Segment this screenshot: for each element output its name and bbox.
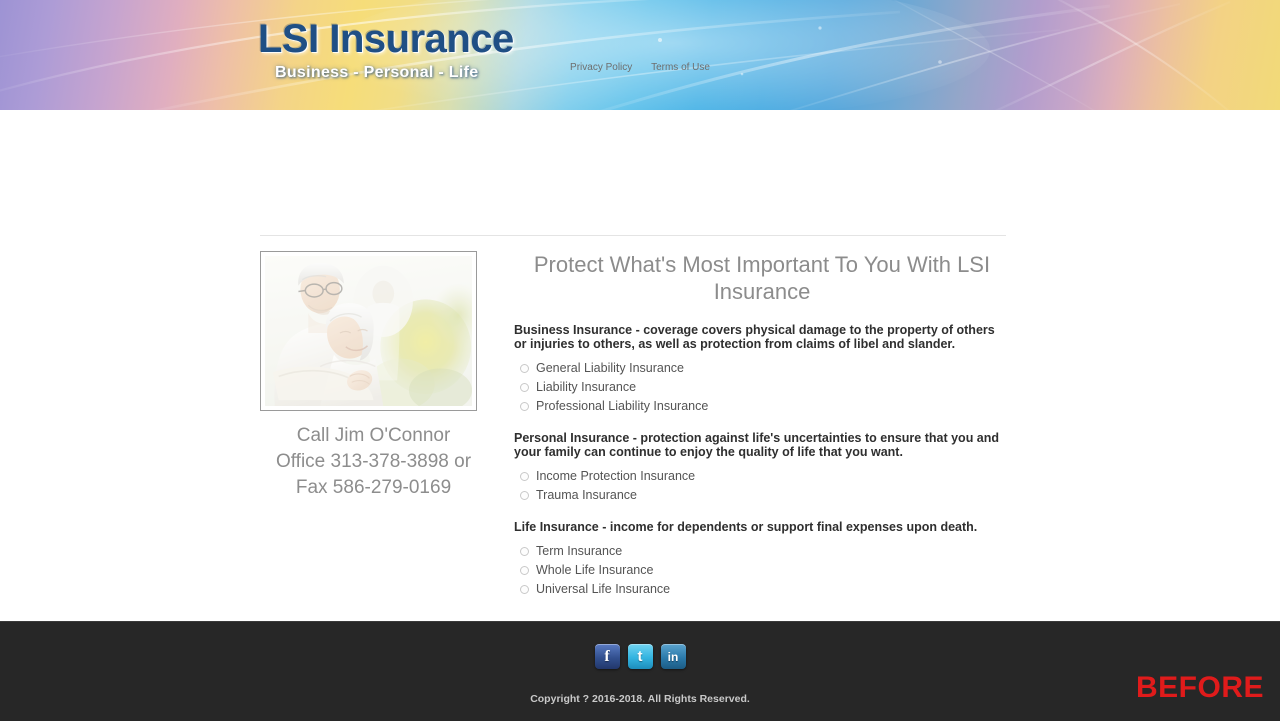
list-item[interactable]: Income Protection Insurance (514, 469, 1010, 483)
circle-bullet-icon (520, 383, 529, 392)
circle-bullet-icon (520, 547, 529, 556)
circle-bullet-icon (520, 566, 529, 575)
footer-links: Privacy Policy Terms of Use (0, 62, 1280, 73)
list-item-label: Professional Liability Insurance (536, 399, 708, 413)
privacy-policy-link[interactable]: Privacy Policy (570, 62, 632, 73)
service-list-personal: Income Protection Insurance Trauma Insur… (514, 469, 1010, 502)
facebook-icon[interactable]: f (595, 644, 620, 669)
list-item[interactable]: Trauma Insurance (514, 488, 1010, 502)
site-title: LSI Insurance (258, 17, 514, 62)
circle-bullet-icon (520, 585, 529, 594)
terms-of-use-link[interactable]: Terms of Use (651, 62, 710, 73)
list-item-label: Universal Life Insurance (536, 582, 670, 596)
circle-bullet-icon (520, 472, 529, 481)
social-links: f t in (0, 644, 1280, 669)
list-item[interactable]: Professional Liability Insurance (514, 399, 1010, 413)
page-title: Protect What's Most Important To You Wit… (514, 251, 1010, 305)
list-item-label: General Liability Insurance (536, 361, 684, 375)
circle-bullet-icon (520, 491, 529, 500)
before-watermark: BEFORE (1136, 671, 1264, 705)
couple-photo (265, 256, 472, 406)
section-description-life: Life Insurance - income for dependents o… (514, 520, 1010, 534)
circle-bullet-icon (520, 364, 529, 373)
section-description-business: Business Insurance - coverage covers phy… (514, 323, 1010, 351)
section-description-personal: Personal Insurance - protection against … (514, 431, 1010, 459)
list-item[interactable]: Universal Life Insurance (514, 582, 1010, 596)
contact-office-phone: Office 313-378-3898 or (260, 449, 487, 475)
service-list-business: General Liability Insurance Liability In… (514, 361, 1010, 413)
couple-photo-frame (260, 251, 477, 411)
list-item[interactable]: Term Insurance (514, 544, 1010, 558)
contact-name: Call Jim O'Connor (260, 423, 487, 449)
banner-light-streaks (0, 0, 1280, 110)
content-divider (260, 235, 1006, 236)
twitter-icon[interactable]: t (628, 644, 653, 669)
contact-fax: Fax 586-279-0169 (260, 475, 487, 501)
list-item-label: Liability Insurance (536, 380, 636, 394)
left-column: Call Jim O'Connor Office 313-378-3898 or… (260, 251, 510, 501)
circle-bullet-icon (520, 402, 529, 411)
list-item[interactable]: Whole Life Insurance (514, 563, 1010, 577)
right-column: Protect What's Most Important To You Wit… (514, 251, 1010, 601)
linkedin-icon[interactable]: in (661, 644, 686, 669)
copyright-text: Copyright ? 2016-2018. All Rights Reserv… (0, 693, 1280, 705)
site-footer: f t in (0, 621, 1280, 721)
list-item[interactable]: Liability Insurance (514, 380, 1010, 394)
list-item-label: Whole Life Insurance (536, 563, 653, 577)
list-item-label: Income Protection Insurance (536, 469, 695, 483)
site-header-banner: LSI Insurance Business - Personal - Life (0, 0, 1280, 110)
list-item-label: Term Insurance (536, 544, 622, 558)
list-item-label: Trauma Insurance (536, 488, 637, 502)
main-content-area: Call Jim O'Connor Office 313-378-3898 or… (0, 110, 1280, 621)
list-item[interactable]: General Liability Insurance (514, 361, 1010, 375)
contact-info: Call Jim O'Connor Office 313-378-3898 or… (260, 423, 487, 501)
service-list-life: Term Insurance Whole Life Insurance Univ… (514, 544, 1010, 596)
